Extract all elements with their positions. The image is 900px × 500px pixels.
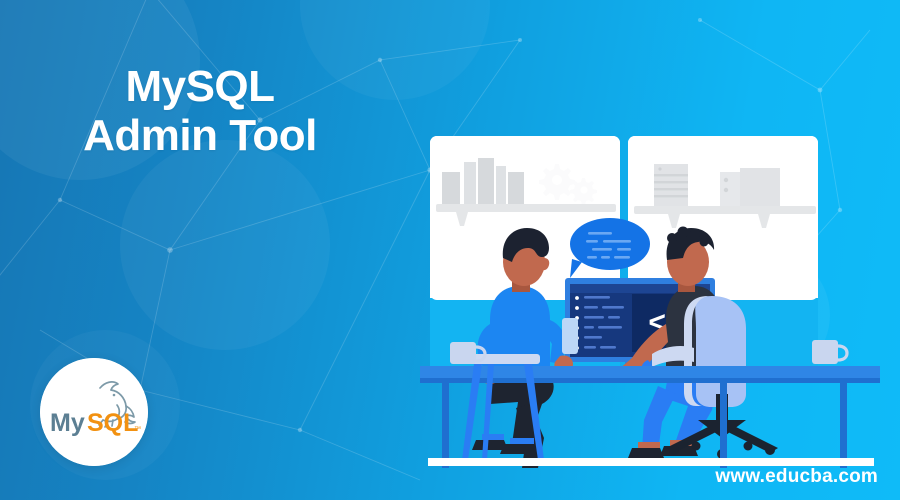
mysql-wordmark-my: My xyxy=(50,409,85,437)
shoe-left-2 xyxy=(472,440,508,450)
shelf-board-right xyxy=(634,206,816,214)
decorative-circle xyxy=(120,140,330,350)
coffee-mug-right xyxy=(812,340,847,364)
desk-leg xyxy=(840,383,847,468)
watermark-url: www.educba.com xyxy=(715,466,878,488)
mysql-logo-icon: My SQL ™ xyxy=(40,358,148,466)
stool-seat xyxy=(468,354,540,364)
sock-left xyxy=(510,438,534,444)
title-line-1: MySQL xyxy=(125,62,274,111)
phone xyxy=(562,318,578,354)
desk-leg xyxy=(720,383,727,468)
developers-at-desk-illustration: </> xyxy=(420,128,880,473)
shelf-board-left xyxy=(436,204,616,212)
mysql-admin-tool-banner: MySQL Admin Tool My SQL ™ xyxy=(0,0,900,500)
title-line-2: Admin Tool xyxy=(0,111,400,160)
mysql-wordmark-sql: SQL xyxy=(87,409,138,437)
floor-strip xyxy=(428,458,874,466)
mysql-trademark: ™ xyxy=(134,426,141,433)
desk-leg xyxy=(442,383,449,468)
shoe-right-2 xyxy=(628,448,664,458)
mysql-logo-badge: My SQL ™ xyxy=(40,358,148,466)
page-title: MySQL Admin Tool xyxy=(0,62,400,161)
